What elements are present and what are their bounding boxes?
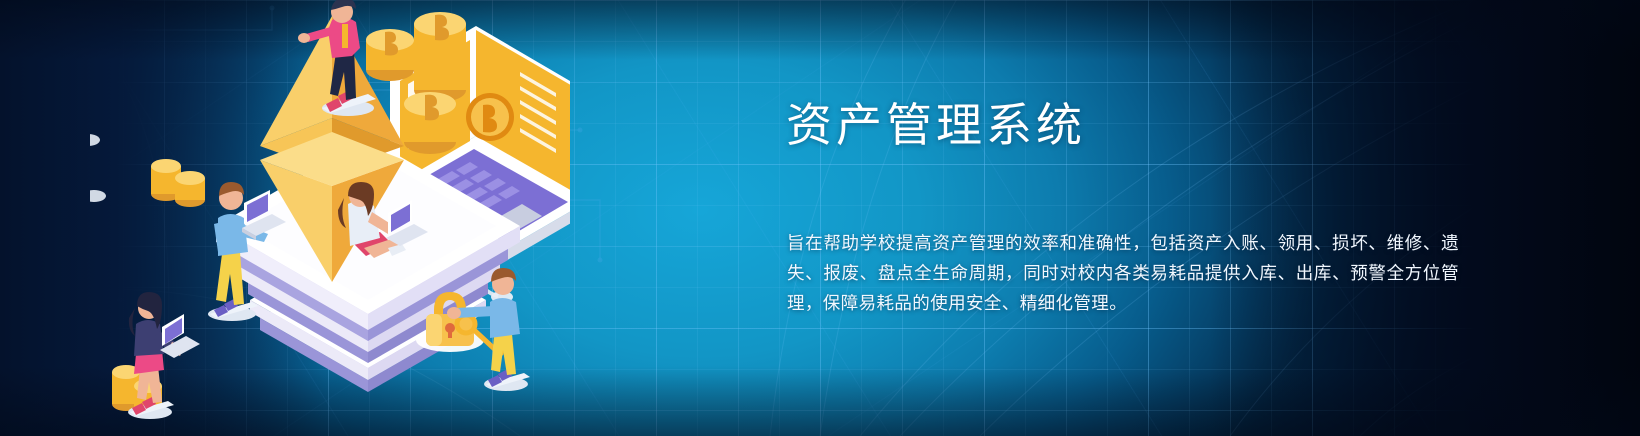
page-title: 资产管理系统 (786, 98, 1086, 153)
isometric-illustration (90, 0, 570, 436)
gold-coin-stack-left-icon (151, 159, 205, 207)
page-description: 旨在帮助学校提高资产管理的效率和准确性，包括资产入账、领用、损坏、维修、遗失、报… (787, 228, 1459, 318)
asset-management-banner: 资产管理系统 旨在帮助学校提高资产管理的效率和准确性，包括资产入账、领用、损坏、… (0, 0, 1640, 436)
banner-copy: 资产管理系统 旨在帮助学校提高资产管理的效率和准确性，包括资产入账、领用、损坏、… (786, 0, 1486, 436)
connector-nodes-left-icon (90, 134, 106, 202)
